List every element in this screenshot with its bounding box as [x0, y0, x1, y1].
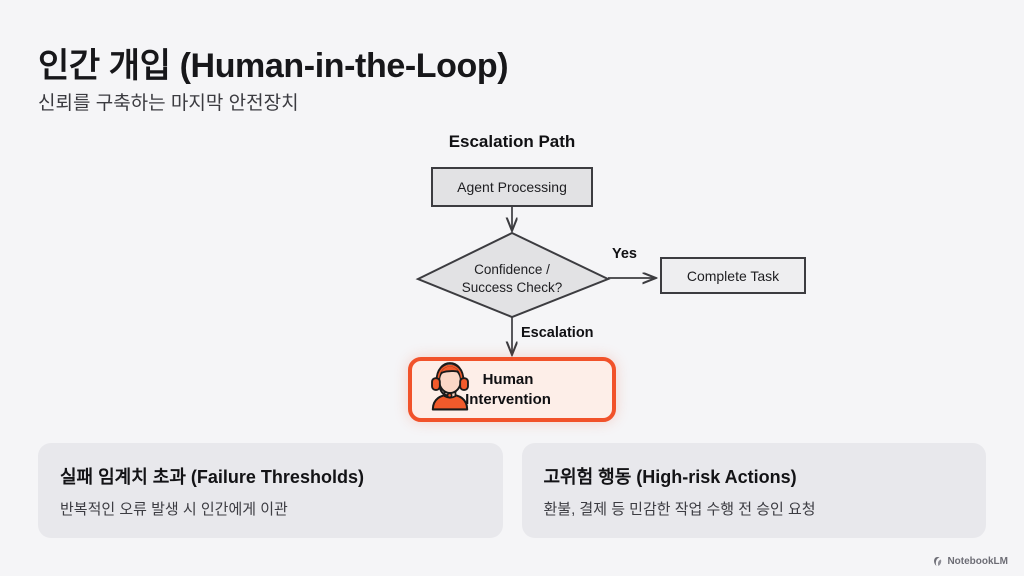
page-subtitle: 신뢰를 구축하는 마지막 안전장치 — [38, 88, 299, 115]
human-intervention-node: Human Intervention — [408, 357, 616, 422]
escalation-flowchart: Escalation Path Agent Processing — [0, 120, 1024, 440]
card-high-risk-actions: 고위험 행동 (High-risk Actions) 환불, 결제 등 민감한 … — [522, 443, 987, 538]
page-title: 인간 개입 (Human-in-the-Loop) — [38, 38, 508, 87]
card-description: 반복적인 오류 발생 시 인간에게 이관 — [60, 498, 481, 519]
watermark-label: NotebookLM — [947, 556, 1008, 567]
edge-label-escalation: Escalation — [521, 325, 594, 341]
card-title: 실패 임계치 초과 (Failure Thresholds) — [60, 463, 481, 489]
card-failure-thresholds: 실패 임계치 초과 (Failure Thresholds) 반복적인 오류 발… — [38, 443, 503, 538]
complete-task-box — [661, 258, 805, 293]
headset-agent-icon — [425, 361, 475, 411]
card-title: 고위험 행동 (High-risk Actions) — [544, 463, 965, 489]
slide-root: 인간 개입 (Human-in-the-Loop) 신뢰를 구축하는 마지막 안… — [0, 0, 1024, 576]
info-cards: 실패 임계치 초과 (Failure Thresholds) 반복적인 오류 발… — [38, 443, 986, 538]
card-description: 환불, 결제 등 민감한 작업 수행 전 승인 요청 — [544, 498, 965, 519]
agent-processing-box — [432, 168, 592, 206]
notebooklm-watermark: NotebookLM — [932, 556, 1008, 567]
decision-diamond — [418, 233, 608, 317]
notebooklm-logo-icon — [932, 556, 943, 567]
edge-label-yes: Yes — [612, 246, 637, 262]
